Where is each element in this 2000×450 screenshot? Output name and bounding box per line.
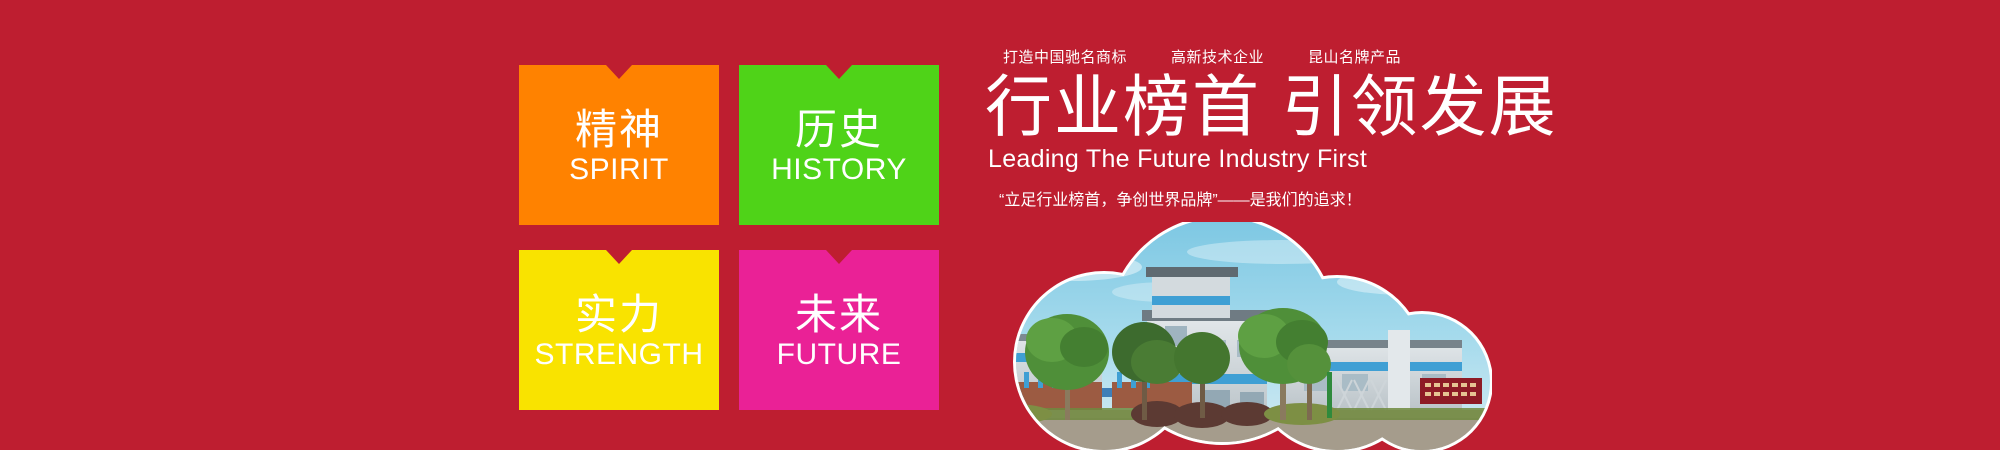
tile-history[interactable]: 历史 HISTORY [739,65,939,225]
tagline-row: 打造中国驰名商标 高新技术企业 昆山名牌产品 [1003,50,1505,65]
tile-notch-icon [826,65,852,79]
tile-history-en: HISTORY [771,153,907,188]
tile-spirit-en: SPIRIT [569,153,669,188]
tile-future-en: FUTURE [777,338,902,373]
headline: 行业榜首 引领发展 [985,74,1505,142]
tile-strength-en: STRENGTH [535,338,704,373]
tile-history-cn: 历史 [795,108,883,152]
tile-spirit-cn: 精神 [575,108,663,152]
tile-notch-icon [826,250,852,264]
cloud-photo-svg [952,222,1492,450]
tagline-item-1: 打造中国驰名商标 [1003,50,1127,65]
tile-spirit[interactable]: 精神 SPIRIT [519,65,719,225]
tile-strength[interactable]: 实力 STRENGTH [519,250,719,410]
tile-future-cn: 未来 [795,293,883,337]
tile-notch-icon [606,65,632,79]
tagline-item-3: 昆山名牌产品 [1308,50,1401,65]
tile-future[interactable]: 未来 FUTURE [739,250,939,410]
headline-text-block: 打造中国驰名商标 高新技术企业 昆山名牌产品 行业榜首 引领发展 Leading… [985,50,1505,209]
subheadline-english: Leading The Future Industry First [988,146,1505,174]
tile-notch-icon [606,250,632,264]
company-slogan-quote: “立足行业榜首，争创世界品牌”——是我们的追求！ [999,192,1505,210]
factory-photo-cloud [952,222,1492,450]
tagline-item-2: 高新技术企业 [1171,50,1264,65]
tile-strength-cn: 实力 [575,293,663,337]
company-banner: 精神 SPIRIT 历史 HISTORY 实力 STRENGTH 未来 FUTU… [0,0,2000,450]
